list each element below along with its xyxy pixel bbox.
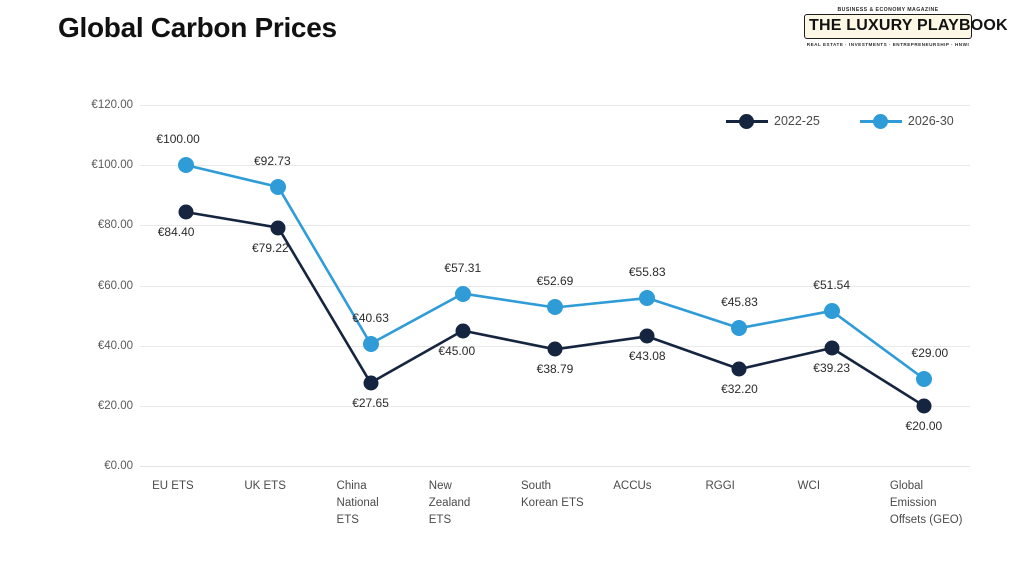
data-point-marker[interactable] (363, 336, 379, 352)
data-point-label: €32.20 (721, 382, 758, 396)
y-axis-tick-label: €120.00 (55, 99, 133, 111)
data-point-label: €51.54 (813, 278, 850, 292)
data-point-marker[interactable] (824, 340, 839, 355)
legend-label: 2022-25 (774, 114, 820, 128)
legend-swatch-icon (726, 113, 768, 129)
data-point-marker[interactable] (178, 157, 194, 173)
y-axis-tick-label: €80.00 (55, 219, 133, 231)
data-point-marker[interactable] (548, 342, 563, 357)
data-point-marker[interactable] (916, 398, 931, 413)
y-axis-tick-label: €100.00 (55, 159, 133, 171)
data-point-marker[interactable] (639, 290, 655, 306)
data-point-marker[interactable] (731, 320, 747, 336)
data-point-label: €45.83 (721, 295, 758, 309)
data-point-marker[interactable] (363, 375, 378, 390)
x-axis-tick-label: Global Emission Offsets (GEO) (890, 478, 963, 529)
data-point-label: €40.63 (352, 311, 389, 325)
data-point-marker[interactable] (270, 179, 286, 195)
data-point-label: €39.23 (813, 361, 850, 375)
data-point-marker[interactable] (455, 286, 471, 302)
data-point-marker[interactable] (824, 303, 840, 319)
gridline (140, 466, 970, 467)
data-point-marker[interactable] (455, 323, 470, 338)
data-point-label: €84.40 (158, 225, 195, 239)
data-point-marker[interactable] (732, 362, 747, 377)
data-point-label: €43.08 (629, 349, 666, 363)
data-point-label: €55.83 (629, 265, 666, 279)
x-axis-tick-label: ACCUs (613, 478, 651, 495)
legend-label: 2026-30 (908, 114, 954, 128)
y-axis-tick-label: €0.00 (55, 460, 133, 472)
data-point-label: €92.73 (254, 154, 291, 168)
data-point-label: €27.65 (352, 396, 389, 410)
data-point-label: €45.00 (438, 344, 475, 358)
data-point-label: €100.00 (156, 132, 199, 146)
data-point-label: €79.22 (252, 241, 289, 255)
x-axis-tick-label: New Zealand ETS (429, 478, 471, 529)
x-axis-tick-label: RGGI (705, 478, 734, 495)
y-axis-tick-label: €20.00 (55, 400, 133, 412)
data-point-label: €52.69 (537, 274, 574, 288)
data-point-label: €57.31 (444, 261, 481, 275)
x-axis-tick-label: EU ETS (152, 478, 194, 495)
data-point-marker[interactable] (271, 220, 286, 235)
x-axis-tick-label: South Korean ETS (521, 478, 584, 512)
data-point-marker[interactable] (916, 371, 932, 387)
x-axis-tick-label: UK ETS (244, 478, 286, 495)
data-point-label: €20.00 (906, 419, 943, 433)
data-point-marker[interactable] (640, 329, 655, 344)
y-axis-tick-label: €60.00 (55, 280, 133, 292)
legend-item-2022-25[interactable]: 2022-25 (726, 113, 820, 129)
x-axis-tick-label: WCI (798, 478, 820, 495)
legend-swatch-icon (860, 113, 902, 129)
data-point-marker[interactable] (547, 299, 563, 315)
y-axis-tick-label: €40.00 (55, 340, 133, 352)
legend-item-2026-30[interactable]: 2026-30 (860, 113, 954, 129)
x-axis-tick-label: China National ETS (337, 478, 379, 529)
chart-legend: 2022-252026-30 (726, 113, 954, 129)
chart-line-global-carbon-prices: €0.00€20.00€40.00€60.00€80.00€100.00€120… (0, 0, 1024, 576)
data-point-label: €38.79 (537, 362, 574, 376)
data-point-marker[interactable] (179, 205, 194, 220)
data-point-label: €29.00 (912, 346, 949, 360)
